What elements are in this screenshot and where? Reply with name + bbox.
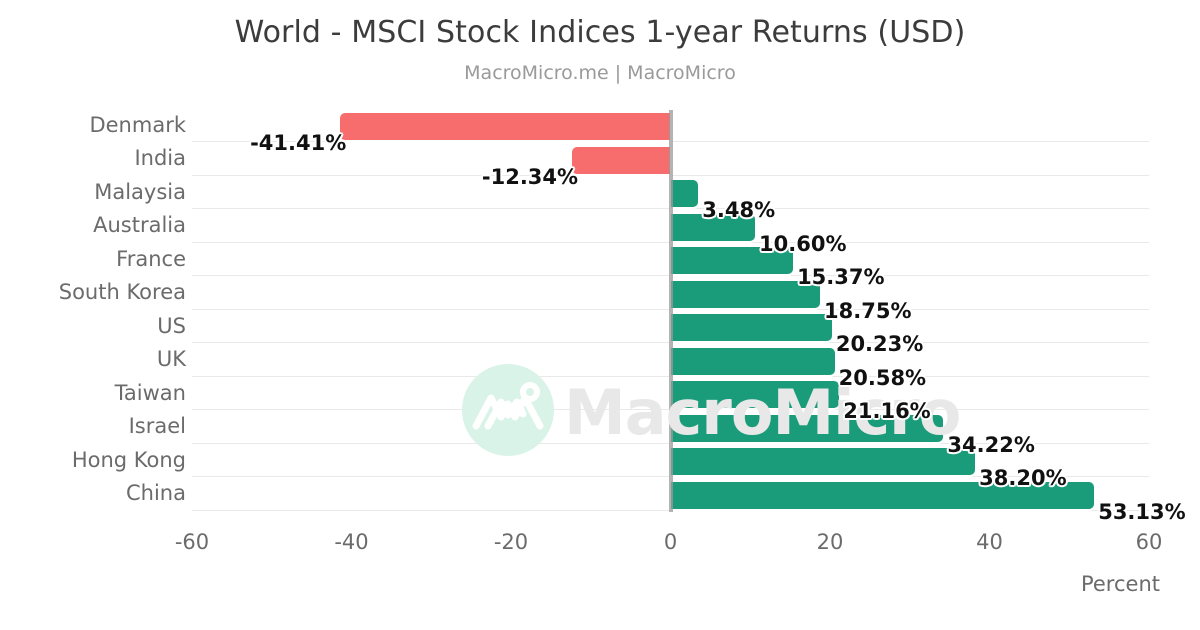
x-axis-tick-label: -40	[334, 530, 368, 554]
y-axis: DenmarkIndiaMalaysiaAustraliaFranceSouth…	[0, 110, 186, 512]
bar-value-label: 18.75%	[824, 299, 911, 323]
y-axis-tick-label: US	[157, 314, 186, 338]
chart-title: World - MSCI Stock Indices 1-year Return…	[0, 15, 1200, 50]
zero-axis-line	[669, 110, 673, 512]
y-axis-tick-label: France	[116, 247, 186, 271]
bar-value-label: 21.16%	[843, 399, 930, 423]
y-axis-tick-label: Taiwan	[115, 381, 186, 405]
x-axis-tick-label: 60	[1136, 530, 1163, 554]
bar[interactable]	[671, 348, 835, 375]
bar-value-label: -41.41%	[250, 131, 346, 155]
bar-value-label: 3.48%	[702, 198, 775, 222]
y-axis-tick-label: Israel	[129, 414, 186, 438]
bar[interactable]	[572, 147, 670, 174]
y-axis-tick-label: Malaysia	[94, 180, 186, 204]
y-axis-tick-label: Australia	[93, 213, 186, 237]
x-axis-tick-label: 20	[817, 530, 844, 554]
bar-value-label: 34.22%	[947, 433, 1034, 457]
plot-area: MacroMicro -41.41%-12.34%3.48%10.60%15.3…	[192, 110, 1149, 512]
y-axis-tick-label: UK	[157, 347, 186, 371]
y-axis-tick-label: India	[134, 146, 186, 170]
y-axis-tick-label: Hong Kong	[72, 448, 186, 472]
bar-value-label: 20.58%	[839, 366, 926, 390]
x-axis-tick-label: 40	[976, 530, 1003, 554]
chart-container: World - MSCI Stock Indices 1-year Return…	[0, 0, 1200, 630]
bar-value-label: 20.23%	[836, 332, 923, 356]
bar[interactable]	[671, 314, 832, 341]
bar-value-label: 53.13%	[1098, 500, 1185, 524]
x-axis-tick-label: -60	[175, 530, 209, 554]
bar-value-label: 15.37%	[797, 265, 884, 289]
x-axis-tick-label: 0	[664, 530, 677, 554]
bar-value-label: 10.60%	[759, 232, 846, 256]
bar[interactable]	[340, 113, 670, 140]
x-axis-title: Percent	[1081, 572, 1160, 596]
bar[interactable]	[671, 180, 699, 207]
y-axis-tick-label: China	[126, 481, 186, 505]
bar[interactable]	[671, 381, 840, 408]
bar-value-label: -12.34%	[482, 165, 578, 189]
chart-subtitle: MacroMicro.me | MacroMicro	[0, 62, 1200, 84]
x-axis: -60-40-200204060	[192, 530, 1149, 560]
x-axis-tick-label: -20	[494, 530, 528, 554]
bar[interactable]	[671, 448, 976, 475]
y-axis-tick-label: South Korea	[59, 280, 186, 304]
y-axis-tick-label: Denmark	[89, 113, 186, 137]
bar-value-label: 38.20%	[979, 466, 1066, 490]
